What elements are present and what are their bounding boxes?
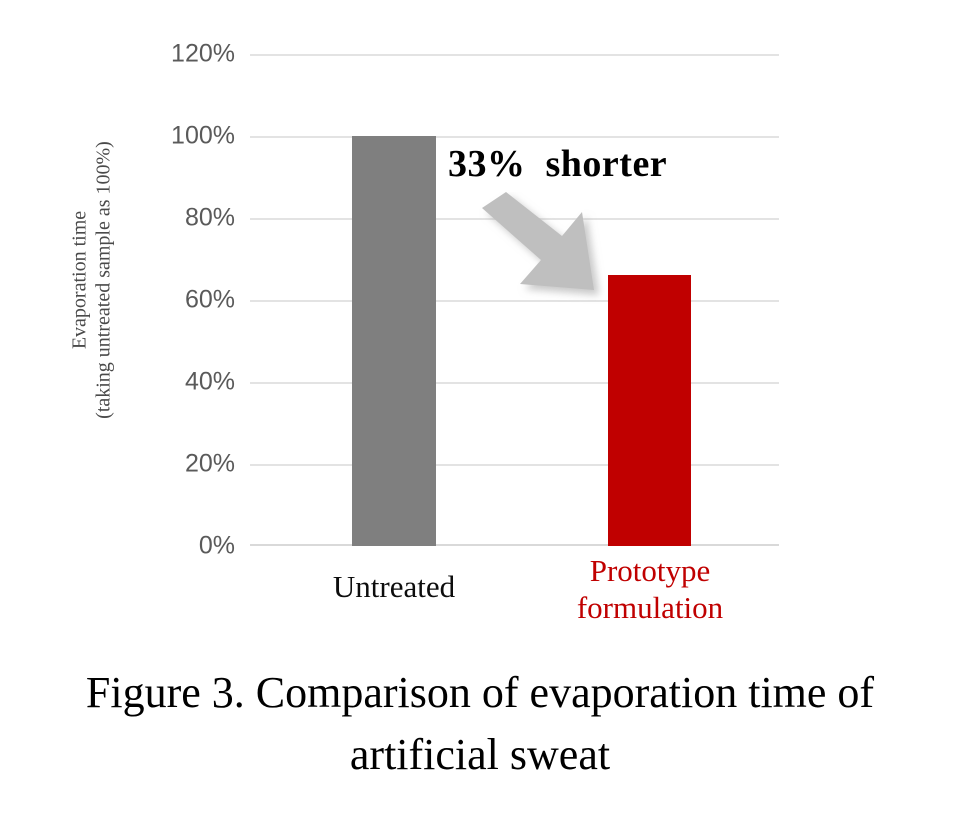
gridline-120: [250, 54, 779, 56]
y-tick-20: 20%: [155, 450, 235, 479]
down-right-arrow-icon: [476, 192, 612, 310]
x-label-prototype: Prototype formulation: [530, 552, 770, 626]
x-label-untreated: Untreated: [274, 568, 514, 605]
y-tick-120: 120%: [155, 40, 235, 69]
y-tick-40: 40%: [155, 368, 235, 397]
gridline-0-baseline: [250, 544, 779, 546]
gridline-40: [250, 382, 779, 384]
y-tick-60: 60%: [155, 286, 235, 315]
gridline-100: [250, 136, 779, 138]
y-tick-100: 100%: [155, 122, 235, 151]
y-tick-0: 0%: [155, 532, 235, 561]
y-axis-title-line1: Evaporation time: [68, 141, 92, 419]
y-axis-title-line2: (taking untreated sample as 100%): [92, 141, 116, 419]
y-axis-tick-labels: 120% 100% 80% 60% 40% 20% 0%: [155, 54, 235, 546]
gridline-20: [250, 464, 779, 466]
y-tick-80: 80%: [155, 204, 235, 233]
bar-untreated: [352, 136, 436, 546]
bar-prototype: [608, 275, 691, 546]
figure-caption: Figure 3. Comparison of evaporation time…: [30, 662, 930, 787]
figure-evaporation-time-chart: Evaporation time (taking untreated sampl…: [0, 0, 960, 824]
annotation-33-percent-shorter: 33% shorter: [448, 142, 667, 186]
y-axis-title: Evaporation time (taking untreated sampl…: [62, 90, 122, 470]
